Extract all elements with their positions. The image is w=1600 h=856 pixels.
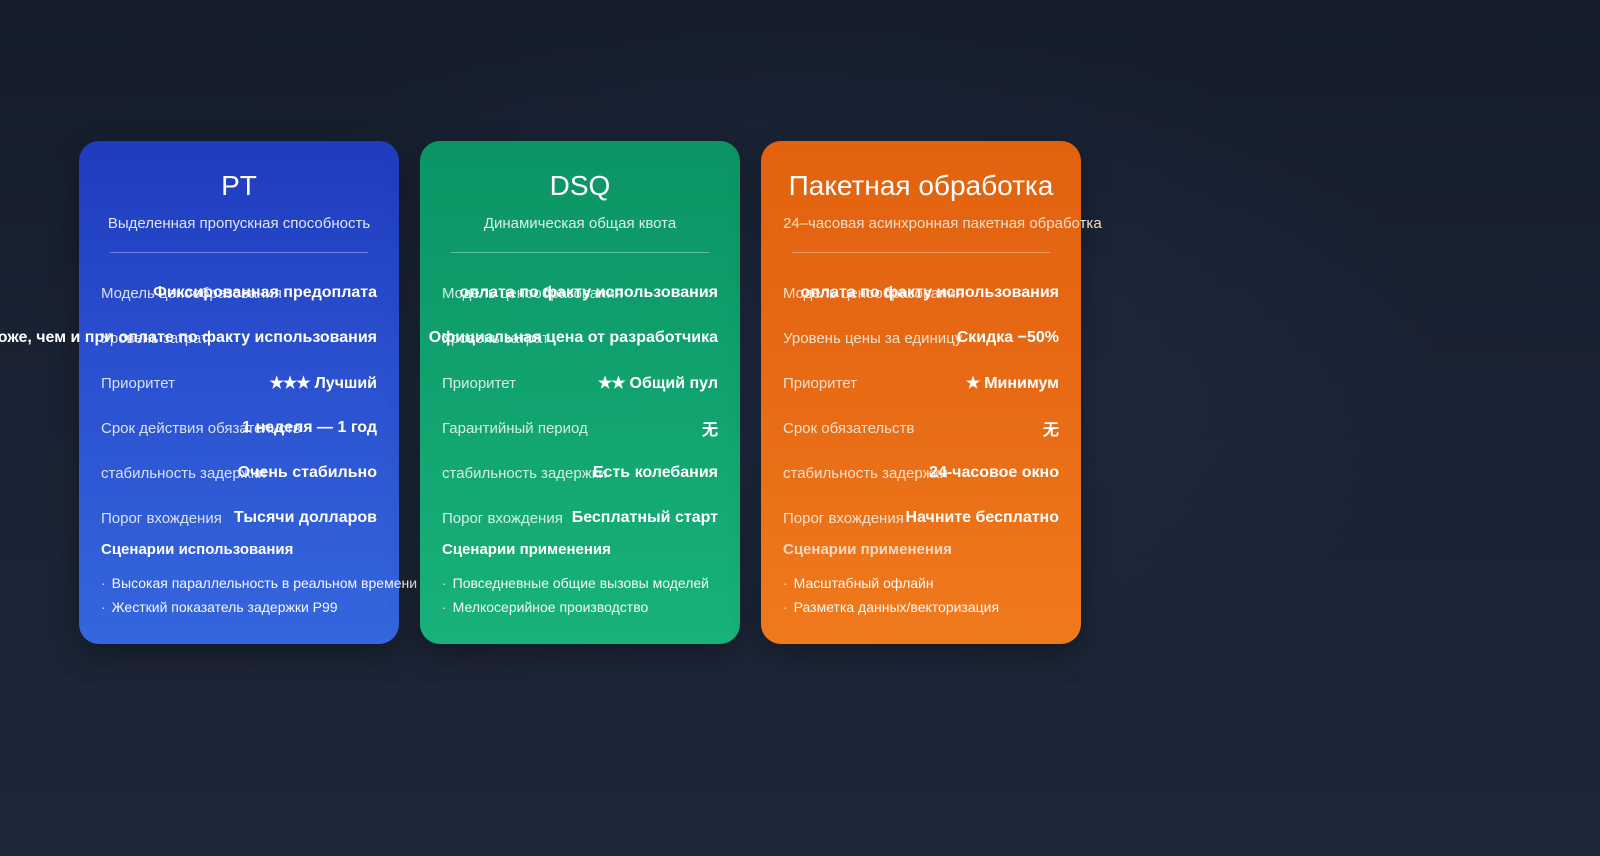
spec-value-text: 24-часовое окно [929,464,1059,481]
bullet-icon: · [442,575,447,591]
spec-value: Официальная цена от разработчика [424,329,718,347]
bullet-icon: · [101,575,106,591]
spec-label: Порог вхождения [101,510,222,527]
spec-label: Гарантийный период [442,420,588,437]
priority-stars: ★★ [598,375,625,392]
usecase-block-dsq: Сценарии применения ·Повседневные общие … [442,541,718,619]
card-divider [451,252,709,253]
spec-value: Дороже, чем и при оплате по факту исполь… [0,329,377,347]
spec-value: оплата по факту использования [454,284,718,302]
spec-value: Тысячи долларов [229,509,377,527]
spec-row: Гарантийный период 无 [442,406,718,451]
spec-label: Порог вхождения [783,510,904,527]
list-item: ·Высокая параллельность в реальном време… [101,571,377,595]
list-item: ·Жесткий показатель задержки P99 [101,595,377,619]
spec-label: Приоритет [783,375,857,392]
usecase-text: Высокая параллельность в реальном времен… [112,575,417,591]
list-item: ·Мелкосерийное производство [442,595,718,619]
spec-value-text: Лучший [315,375,377,392]
spec-value-text: Скидка −50% [957,329,1059,346]
spec-value-text: 1 неделя — 1 год [242,419,377,436]
card-subtitle-batch: 24–часовая асинхронная пакетная обработк… [783,215,1059,232]
spec-value-text: 无 [1043,422,1059,439]
spec-value-text: оплата по факту использования [800,284,1059,301]
bullet-icon: · [101,599,106,615]
bullet-icon: · [442,599,447,615]
spec-row: Порог вхождения Бесплатный старт [442,496,718,541]
spec-row: Модель ценообразования оплата по факту и… [442,271,718,316]
spec-value: ★★★Лучший [270,373,377,393]
card-title-batch: Пакетная обработка [783,171,1059,202]
spec-value-text: Начните бесплатно [906,509,1060,526]
spec-row: стабильность задержки 24-часовое окно [783,451,1059,496]
spec-value: 1 неделя — 1 год [237,419,377,437]
spec-value: ★Минимум [966,373,1059,393]
spec-value: Фиксированная предоплата [148,284,377,302]
spec-value-text: Очень стабильно [238,464,377,481]
usecase-text: Повседневные общие вызовы моделей [453,575,709,591]
priority-stars: ★ [966,375,979,392]
pricing-card-pt[interactable]: PT Выделенная пропускная способность Мод… [79,141,399,644]
card-title-pt: PT [101,171,377,202]
page-header: Трехмерное сравнение моделей тарификации… [0,0,1600,101]
usecase-title: Сценарии использования [101,541,377,558]
usecase-list: ·Масштабный офлайн ·Разметка данных/вект… [783,571,1059,619]
spec-value-text: Официальная цена от разработчика [429,329,718,346]
card-subtitle-pt: Выделенная пропускная способность [101,215,377,232]
spec-row: Срок обязательств 无 [783,406,1059,451]
spec-value-text: Дороже, чем и при оплате по факту исполь… [0,329,377,346]
card-divider [110,252,368,253]
spec-value: Бесплатный старт [567,509,718,527]
spec-row: Порог вхождения Тысячи долларов [101,496,377,541]
spec-label: Срок обязательств [783,420,914,437]
spec-row: Уровень затрат Официальная цена от разра… [442,316,718,361]
usecase-text: Масштабный офлайн [794,575,934,591]
spec-value-text: Общий пул [630,375,718,392]
usecase-title: Сценарии применения [783,541,1059,558]
bullet-icon: · [783,599,788,615]
spec-rows-dsq: Модель ценообразования оплата по факту и… [442,271,718,541]
list-item: ·Масштабный офлайн [783,571,1059,595]
page-title: Трехмерное сравнение моделей тарификации… [0,28,1600,69]
spec-row: Срок действия обязательств 1 неделя — 1 … [101,406,377,451]
card-subtitle-dsq: Динамическая общая квота [442,215,718,232]
usecase-title: Сценарии применения [442,541,718,558]
spec-row: Приоритет ★Минимум [783,361,1059,406]
spec-row: Модель ценообразования Фиксированная пре… [101,271,377,316]
card-title-dsq: DSQ [442,171,718,202]
spec-row: Уровень цены за единицу Скидка −50% [783,316,1059,361]
page-subtitle: Три сосуществующие структуры биллинга Ve… [0,81,1600,101]
usecase-block-batch: Сценарии применения ·Масштабный офлайн ·… [783,541,1059,619]
usecase-text: Разметка данных/векторизация [794,599,999,615]
usecase-list: ·Высокая параллельность в реальном време… [101,571,377,619]
spec-row: стабильность задержки Есть колебания [442,451,718,496]
pricing-card-dsq[interactable]: DSQ Динамическая общая квота Модель цено… [420,141,740,644]
spec-label: Приоритет [101,375,175,392]
spec-value: 24-часовое окно [924,464,1059,482]
spec-value: ★★Общий пул [598,373,718,393]
spec-label: Приоритет [442,375,516,392]
spec-rows-batch: Модель ценообразования оплата по факту и… [783,271,1059,541]
card-divider [792,252,1050,253]
usecase-text: Жесткий показатель задержки P99 [112,599,338,615]
spec-value: Скидка −50% [952,329,1059,347]
spec-row: стабильность задержки Очень стабильно [101,451,377,496]
spec-rows-pt: Модель ценообразования Фиксированная пре… [101,271,377,541]
spec-value: Очень стабильно [233,464,377,482]
pricing-cards-container: PT Выделенная пропускная способность Мод… [79,141,1081,644]
priority-stars: ★★★ [270,375,310,392]
spec-value-text: Минимум [984,375,1059,392]
spec-row: Приоритет ★★★Лучший [101,361,377,406]
spec-value-text: Фиксированная предоплата [153,284,377,301]
spec-row: Приоритет ★★Общий пул [442,361,718,406]
pricing-card-batch[interactable]: Пакетная обработка 24–часовая асинхронна… [761,141,1081,644]
spec-value: Начните бесплатно [901,509,1060,527]
bullet-icon: · [783,575,788,591]
spec-label: Уровень цены за единицу [783,330,962,347]
spec-value: 无 [1038,416,1059,440]
usecase-list: ·Повседневные общие вызовы моделей ·Мелк… [442,571,718,619]
spec-value-text: оплата по факту использования [459,284,718,301]
spec-label: стабильность задержки [783,465,948,482]
spec-row: Порог вхождения Начните бесплатно [783,496,1059,541]
spec-label: стабильность задержки [442,465,607,482]
spec-value: оплата по факту использования [795,284,1059,302]
spec-value-text: Есть колебания [593,464,718,481]
list-item: ·Повседневные общие вызовы моделей [442,571,718,595]
page-root: Трехмерное сравнение моделей тарификации… [0,0,1600,856]
spec-value-text: 无 [702,422,718,439]
spec-value-text: Бесплатный старт [572,509,718,526]
spec-row: Уровень затрат Дороже, чем и при оплате … [101,316,377,361]
usecase-block-pt: Сценарии использования ·Высокая параллел… [101,541,377,619]
spec-value: Есть колебания [588,464,718,482]
list-item: ·Разметка данных/векторизация [783,595,1059,619]
spec-value-text: Тысячи долларов [234,509,377,526]
spec-label: Порог вхождения [442,510,563,527]
usecase-text: Мелкосерийное производство [453,599,649,615]
spec-row: Модель ценообразования оплата по факту и… [783,271,1059,316]
spec-value: 无 [697,416,718,440]
